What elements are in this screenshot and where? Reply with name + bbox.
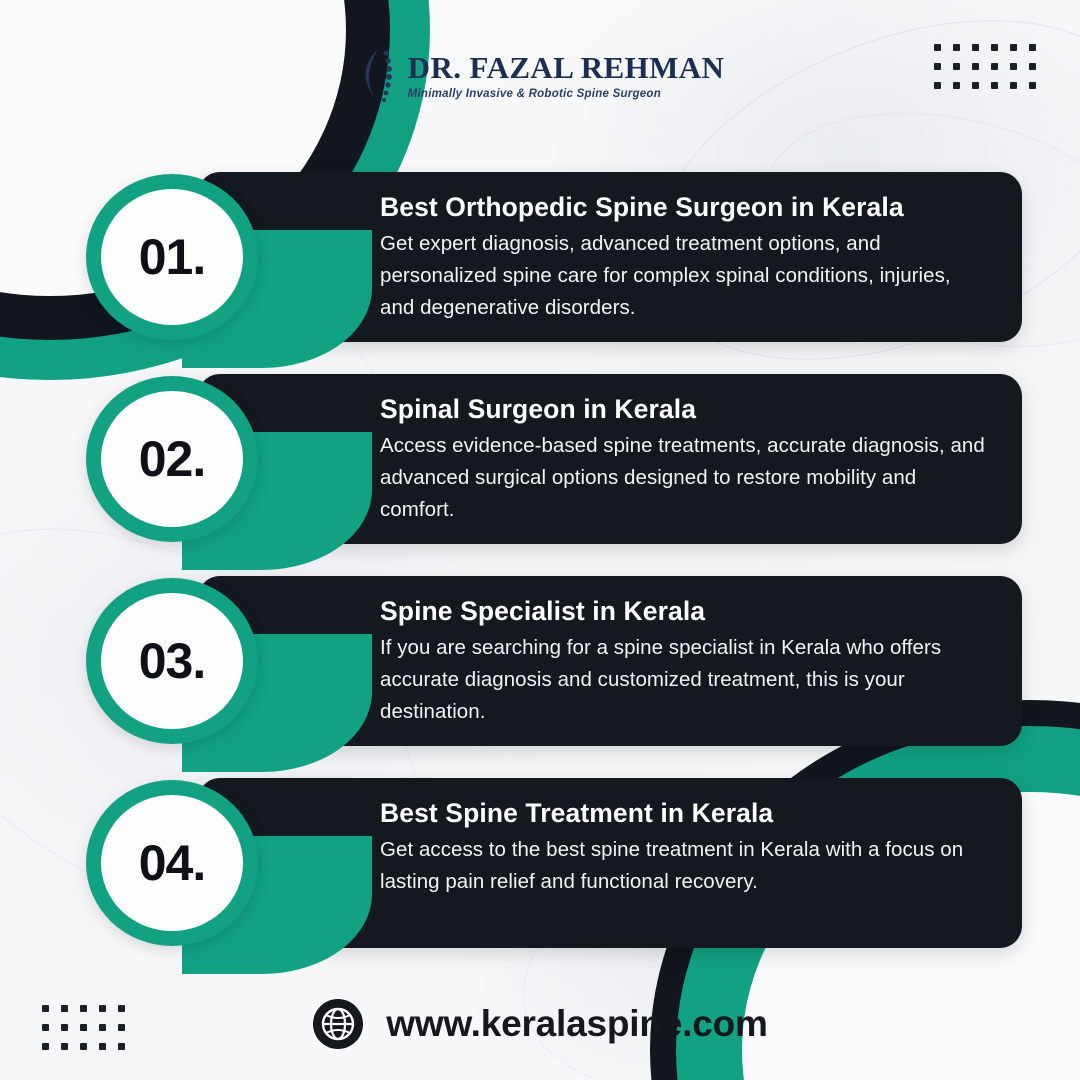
number-badge[interactable]: 02. [86,376,258,542]
brand-tagline: Minimally Invasive & Robotic Spine Surge… [408,88,661,100]
card-row[interactable]: Best Orthopedic Spine Surgeon in KeralaG… [86,172,1022,342]
brand-name: DR. FAZAL REHMAN [408,52,725,83]
card-row[interactable]: Spine Specialist in KeralaIf you are sea… [86,576,1022,746]
number-badge-inner: 01. [101,189,243,325]
card-description: Get access to the best spine treatment i… [380,834,988,898]
badge-number: 02. [139,434,206,484]
number-badge[interactable]: 03. [86,578,258,744]
number-badge-inner: 03. [101,593,243,729]
brand-logo: DR. FAZAL REHMAN Minimally Invasive & Ro… [0,46,1080,106]
globe-icon [312,998,364,1050]
card-row[interactable]: Best Spine Treatment in KeralaGet access… [86,778,1022,948]
card-description: If you are searching for a spine special… [380,632,988,728]
number-badge[interactable]: 04. [86,780,258,946]
poster-canvas: DR. FAZAL REHMAN Minimally Invasive & Ro… [0,0,1080,1080]
card-row[interactable]: Spinal Surgeon in KeralaAccess evidence-… [86,374,1022,544]
card-list: Best Orthopedic Spine Surgeon in KeralaG… [0,172,1080,948]
spine-icon [356,46,396,106]
card-title: Spinal Surgeon in Kerala [380,394,988,425]
card-title: Best Spine Treatment in Kerala [380,798,988,829]
badge-number: 04. [139,838,206,888]
badge-number: 01. [139,232,206,282]
website-url[interactable]: www.keralaspine.com [386,1003,767,1045]
card-title: Best Orthopedic Spine Surgeon in Kerala [380,192,988,223]
number-badge-inner: 02. [101,391,243,527]
card-title: Spine Specialist in Kerala [380,596,988,627]
number-badge[interactable]: 01. [86,174,258,340]
footer: www.keralaspine.com [0,998,1080,1050]
card-description: Access evidence-based spine treatments, … [380,430,988,526]
card-description: Get expert diagnosis, advanced treatment… [380,228,988,324]
badge-number: 03. [139,636,206,686]
number-badge-inner: 04. [101,795,243,931]
